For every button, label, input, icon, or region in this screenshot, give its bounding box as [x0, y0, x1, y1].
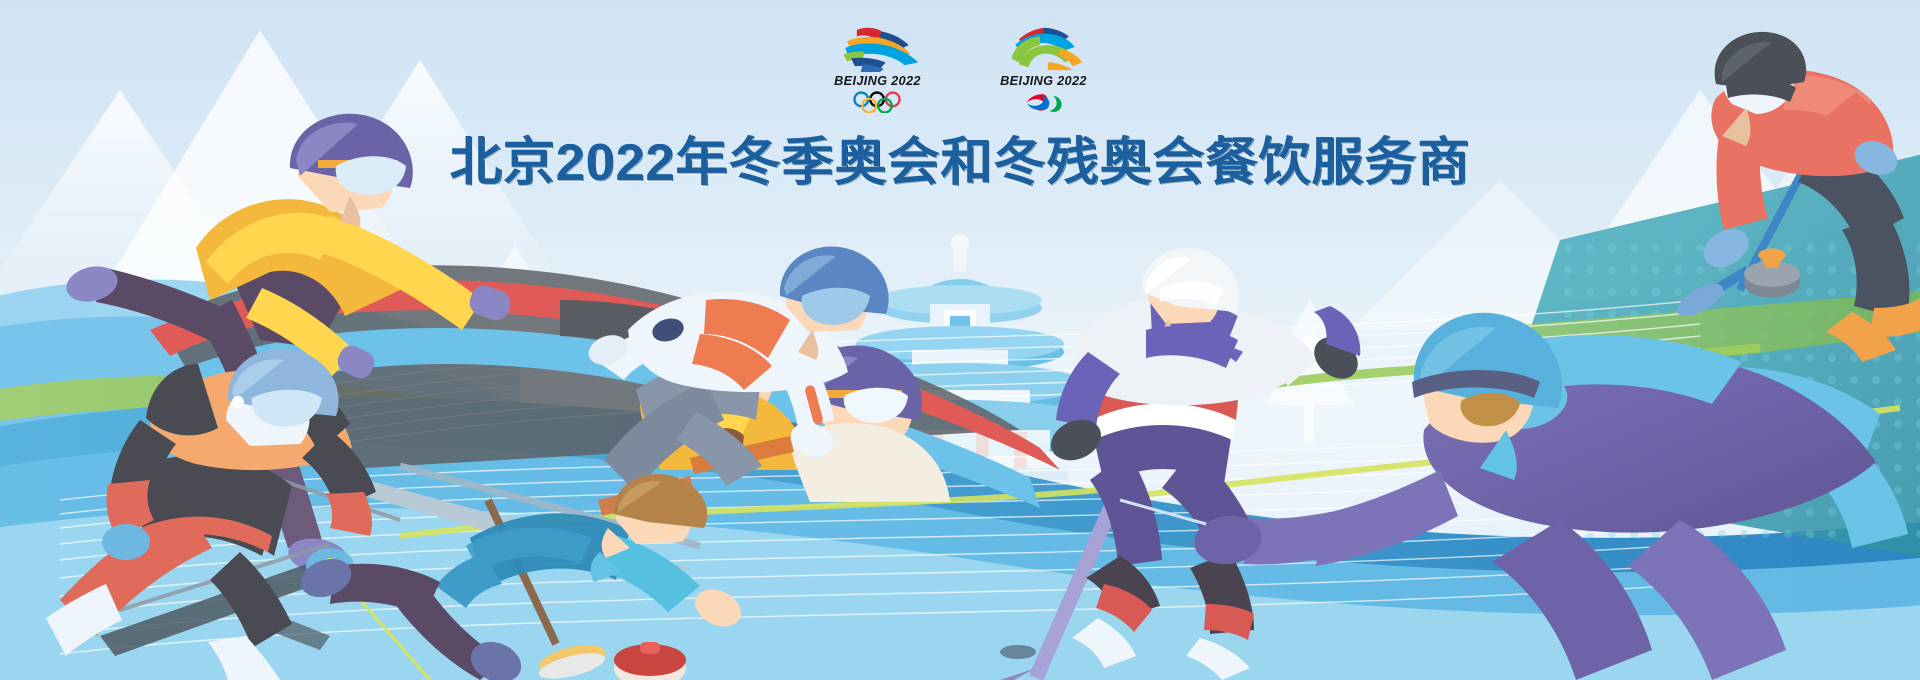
beijing-2022-banner: BEIJING 2022: [0, 0, 1920, 680]
curler-sweeper: [1672, 32, 1920, 362]
ice-hockey-player: [1000, 248, 1366, 680]
athletes-illustration: [0, 0, 1920, 680]
